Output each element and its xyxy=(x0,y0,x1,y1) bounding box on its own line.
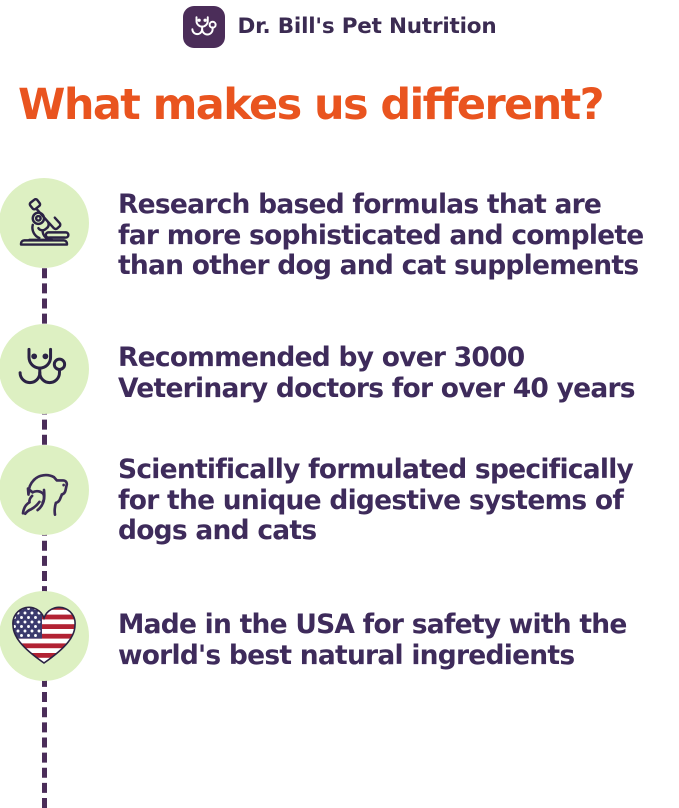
feature-text: Made in the USA for safety with the worl… xyxy=(118,591,679,671)
feature-list: Research based formulas that are far mor… xyxy=(0,178,679,689)
brand-name: Dr. Bill's Pet Nutrition xyxy=(238,14,497,39)
feature-text: Recommended by over 3000 Veterinary doct… xyxy=(118,324,679,404)
usa-flag-heart-icon xyxy=(0,591,89,681)
feature-item: Recommended by over 3000 Veterinary doct… xyxy=(0,324,679,414)
page-title: What makes us different? xyxy=(18,84,668,127)
stethoscope-face-logo-icon xyxy=(183,6,225,48)
dog-and-cat-icon xyxy=(0,445,89,535)
brand-header: Dr. Bill's Pet Nutrition xyxy=(0,0,679,46)
microscope-icon xyxy=(0,178,89,268)
stethoscope-face-icon xyxy=(0,324,89,414)
feature-text: Research based formulas that are far mor… xyxy=(118,178,679,282)
feature-item: Research based formulas that are far mor… xyxy=(0,178,679,282)
feature-item: Scientifically formulated specifically f… xyxy=(0,445,679,547)
feature-item: Made in the USA for safety with the worl… xyxy=(0,591,679,681)
feature-text: Scientifically formulated specifically f… xyxy=(118,445,679,547)
